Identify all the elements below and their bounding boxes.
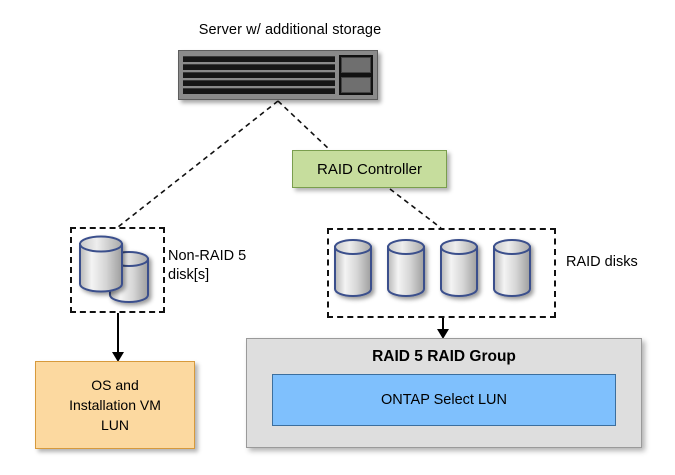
non-raid-disks-label-line2: disk[s]: [168, 267, 209, 283]
non-raid-disks-label-line1: Non-RAID 5: [168, 248, 246, 264]
server-drive-bays: [183, 55, 335, 95]
disk-cylinder: [494, 240, 530, 296]
os-lun-line-2: Installation VM: [69, 395, 161, 415]
disk-cylinder: [388, 240, 424, 296]
page-title: Server w/ additional storage: [120, 22, 460, 38]
server-slot: [341, 57, 371, 73]
server-slot: [341, 77, 371, 93]
raid-controller-node: RAID Controller: [292, 150, 447, 188]
disk-cylinder: [441, 240, 477, 296]
disk-cylinder: [335, 240, 371, 296]
os-installation-vm-lun-node: OS and Installation VM LUN: [35, 361, 195, 449]
non-raid-disks-label: Non-RAID 5 disk[s]: [168, 247, 246, 285]
disk-cylinder: [80, 237, 122, 292]
os-lun-line-3: LUN: [101, 415, 129, 435]
server-chassis: [178, 50, 378, 100]
server-slot-column: [339, 55, 373, 95]
raid-disks-label: RAID disks: [566, 253, 638, 272]
connector-server-to-raid-controller: [278, 101, 330, 150]
server-bay: [183, 72, 335, 78]
raid-controller-label: RAID Controller: [317, 161, 422, 178]
connector-server-to-nonraid: [118, 101, 278, 227]
raid5-group-title: RAID 5 RAID Group: [372, 348, 516, 366]
os-lun-line-1: OS and: [91, 375, 138, 395]
connector-raid-controller-to-raid-disks: [390, 189, 441, 228]
server-bay: [183, 56, 335, 62]
server-bay: [183, 64, 335, 70]
server-bay: [183, 88, 335, 94]
ontap-select-lun-node: ONTAP Select LUN: [272, 374, 616, 426]
raid5-raid-group-node: RAID 5 RAID Group ONTAP Select LUN: [246, 338, 642, 448]
server-bay: [183, 80, 335, 86]
raid-disk-row: [331, 236, 553, 312]
ontap-select-lun-label: ONTAP Select LUN: [381, 392, 507, 408]
non-raid-disk-stack: [74, 231, 162, 309]
diagram-canvas: Server w/ additional storage RAID Contro…: [0, 0, 675, 475]
